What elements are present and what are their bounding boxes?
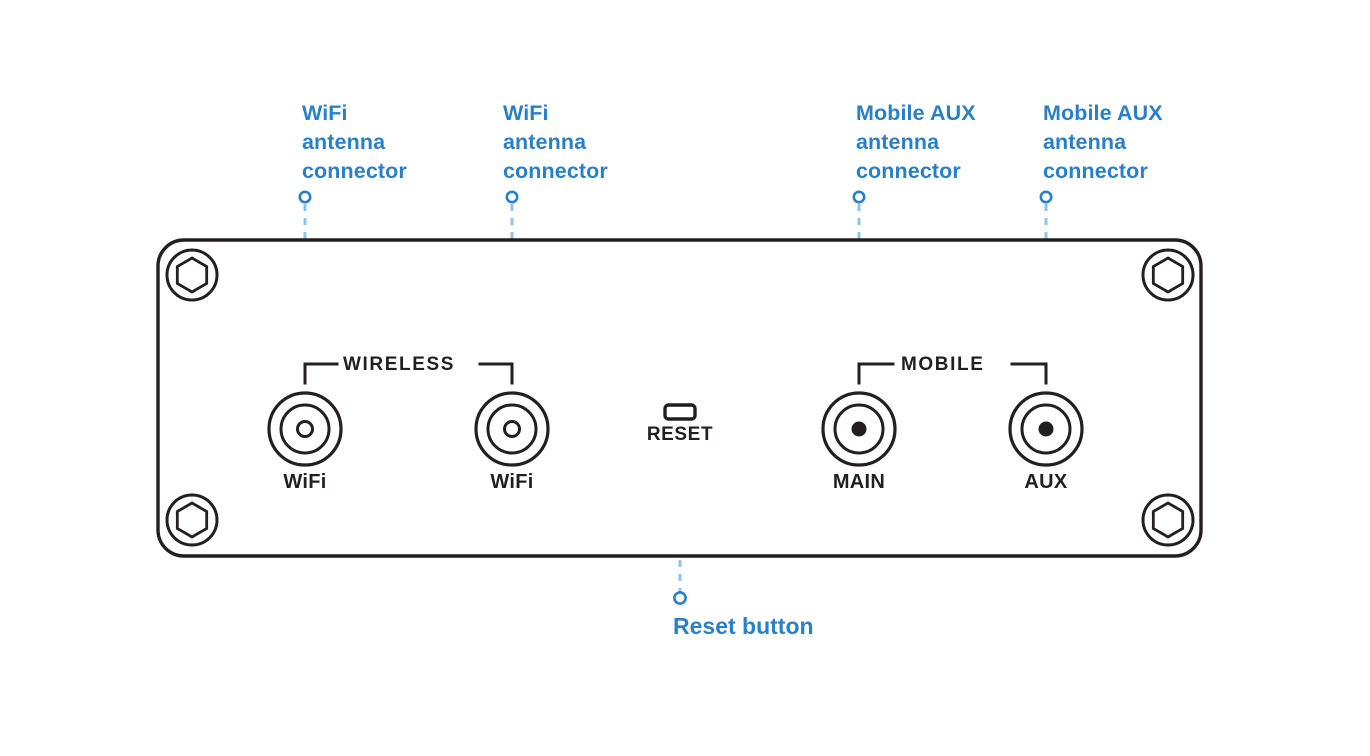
callout-wifi-antenna-connector-1: WiFi antenna connector	[302, 99, 407, 186]
panel-body-outline	[158, 240, 1201, 556]
endpoint-marker-reset	[674, 592, 685, 603]
port-label-mobile-aux: AUX	[1024, 471, 1067, 494]
reset-label: RESET	[647, 424, 713, 446]
callout-reset-button: Reset button	[673, 611, 814, 641]
panel-graphics	[0, 0, 1370, 756]
endpoint-marker-mobile-main	[854, 192, 864, 202]
endpoint-marker-wifi-left	[300, 192, 310, 202]
callout-mobile-aux-antenna-connector-2: Mobile AUX antenna connector	[1043, 99, 1163, 186]
mobile-main-connector[interactable]	[823, 393, 895, 465]
mobile-aux-connector[interactable]	[1010, 393, 1082, 465]
group-label-wireless: WIRELESS	[343, 354, 455, 376]
callout-wifi-antenna-connector-2: WiFi antenna connector	[503, 99, 608, 186]
reset-button[interactable]	[665, 405, 695, 419]
port-label-wifi-left: WiFi	[283, 471, 326, 494]
group-label-mobile: MOBILE	[901, 354, 985, 376]
endpoint-marker-mobile-aux	[1041, 192, 1051, 202]
router-panel-diagram: WiFi antenna connector WiFi antenna conn…	[0, 0, 1370, 756]
callout-mobile-aux-antenna-connector-1: Mobile AUX antenna connector	[856, 99, 976, 186]
port-label-wifi-right: WiFi	[490, 471, 533, 494]
port-label-mobile-main: MAIN	[833, 471, 885, 494]
endpoint-marker-wifi-right	[507, 192, 517, 202]
